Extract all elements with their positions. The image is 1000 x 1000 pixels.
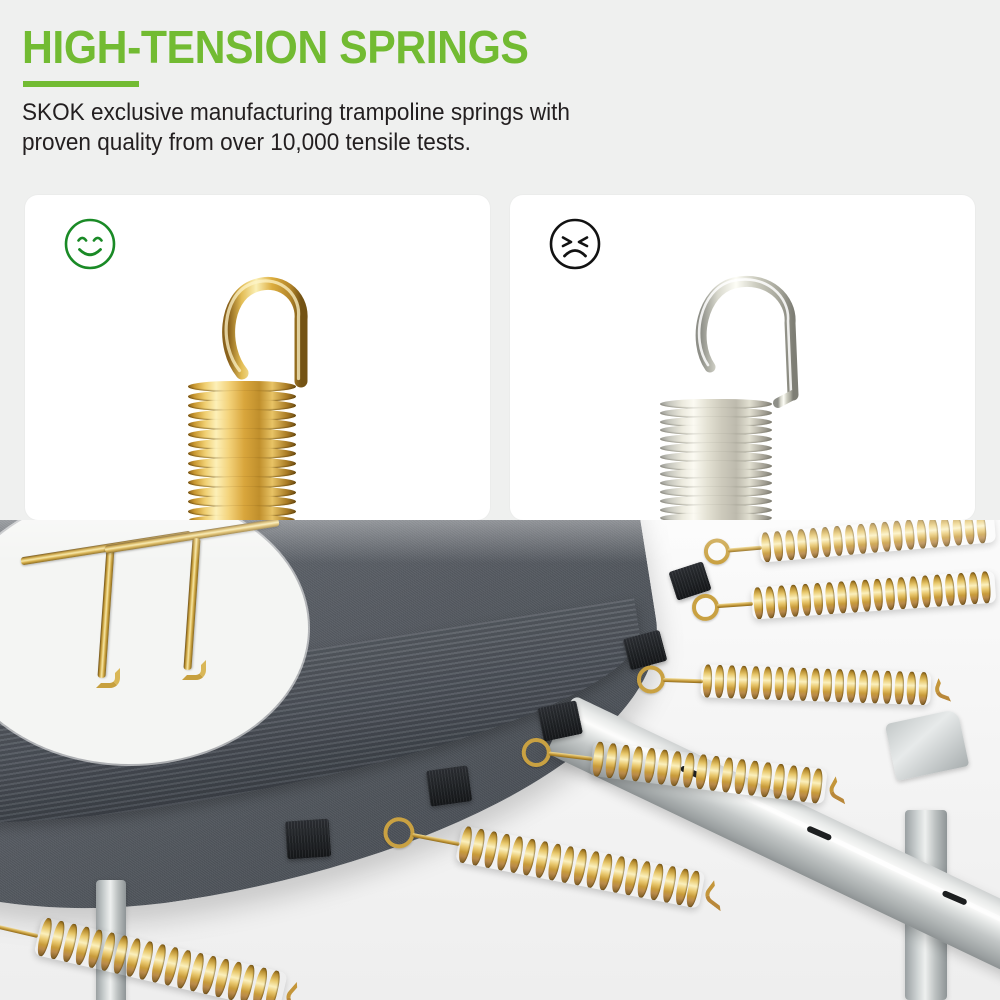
spring-arm [728,546,762,553]
silver-spring-coil [660,399,772,520]
spring-arm [548,752,592,761]
t-tool-stem [97,548,114,678]
rail-slot [806,825,832,841]
subtitle-line-1: SKOK exclusive manufacturing trampoline … [22,98,765,128]
comparison-card-good [25,195,490,520]
gold-spring-coil [188,381,296,520]
extension-spring [634,662,965,706]
spring-g-hook [703,537,731,565]
spring-arm [663,678,703,683]
spring-coil [455,825,706,909]
spring-coil [751,571,997,620]
subtitle-text: SKOK exclusive manufacturing trampoline … [22,98,765,158]
spring-g-hook [381,815,417,851]
spring-coil [700,664,931,705]
spring-coil [34,916,288,1000]
coil-ring [660,513,772,520]
spring-coil [758,520,996,563]
spring-arm [717,602,753,609]
title-underline-rule [23,81,139,87]
spring-g-hook [691,593,720,622]
extension-spring [0,898,354,1000]
extension-spring [699,520,1000,568]
mat-webbing-tab [426,765,473,806]
t-tool-hook [182,660,206,680]
spring-end-hook [826,776,855,804]
t-tool-hook [96,668,120,688]
mat-webbing-tab [285,819,332,860]
comparison-card-bad [510,195,975,520]
subtitle-line-2: proven quality from over 10,000 tensile … [22,128,765,158]
spring-g-hook [520,736,552,768]
spring-arm [412,833,460,846]
spring-g-hook [636,665,665,694]
spring-arm [0,923,38,938]
frame-bracket [885,709,969,781]
spring-end-hook [282,982,315,1000]
t-tool-stem [183,538,200,670]
spring-end-hook [701,880,733,911]
spring-end-hook [932,678,957,702]
header-section: HIGH-TENSION SPRINGS SKOK exclusive manu… [0,0,1000,190]
page-title: HIGH-TENSION SPRINGS [22,22,528,72]
rail-slot [941,890,967,906]
extension-spring [689,570,1000,624]
trampoline-photo-section [0,520,1000,1000]
infographic-page: HIGH-TENSION SPRINGS SKOK exclusive manu… [0,0,1000,1000]
